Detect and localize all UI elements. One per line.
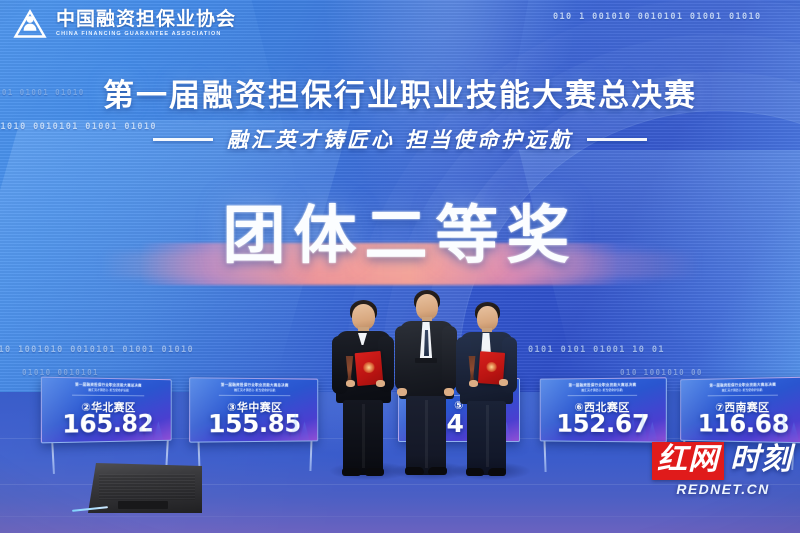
shoe-left-2 — [365, 468, 384, 476]
hand-left-1 — [346, 380, 355, 387]
podium-rule-4 — [567, 395, 637, 396]
arm-right-outer — [456, 337, 471, 395]
watermark-url: REDNET.CN — [652, 481, 794, 497]
hand-center-2 — [444, 388, 454, 396]
subtitle-rule-right — [587, 138, 647, 141]
watermark-brand-red: 红网 — [652, 442, 724, 480]
trouser-seam-center — [425, 400, 428, 468]
shoe-center-2 — [428, 467, 447, 475]
speaker-grille — [99, 474, 195, 500]
association-logo: 中国融资担保业协会 CHINA FINANCING GUARANTEE ASSO… — [12, 6, 236, 42]
logo-name-cn: 中国融资担保业协会 — [56, 10, 236, 29]
podium-header-1: 第一届融资担保行业职业技能大赛总决赛 融汇英才铸匠心 担当使命护远航 — [42, 382, 171, 393]
watermark-brand-row: 红网 时刻 — [652, 442, 794, 480]
hand-center-1 — [397, 388, 407, 396]
mountain-person-icon — [12, 6, 48, 42]
belt-center — [415, 358, 437, 363]
podium-score-4: 152.67 — [541, 411, 666, 437]
certificate-emblem-right — [486, 361, 498, 373]
watermark: 红网 时刻 REDNET.CN — [652, 442, 794, 497]
podium-rule-2 — [219, 395, 290, 396]
speaker-port — [118, 501, 168, 509]
hand-right-1 — [469, 380, 478, 387]
logo-name-en: CHINA FINANCING GUARANTEE ASSOCIATION — [56, 32, 236, 38]
trouser-seam-right — [486, 405, 489, 467]
podium-header-5: 第一届融资担保行业职业技能大赛总决赛 融汇英才铸匠心 担当使命护远航 — [681, 382, 800, 393]
podium-header-4: 第一届融资担保行业职业技能大赛总决赛 融汇英才铸匠心 担当使命护远航 — [541, 382, 666, 393]
event-subtitle: 融汇英才铸匠心 担当使命护远航 — [227, 124, 573, 154]
podium-screen-5[interactable]: 第一届融资担保行业职业技能大赛总决赛 融汇英才铸匠心 担当使命护远航 ⑦西南赛区… — [680, 377, 800, 444]
podium-rule-5 — [707, 395, 778, 397]
arm-center-left — [395, 326, 410, 390]
event-subtitle-row: 融汇英才铸匠心 担当使命护远航 — [0, 124, 800, 154]
event-title: 第一届融资担保行业职业技能大赛总决赛 — [0, 70, 800, 115]
shoe-right-1 — [466, 468, 484, 476]
trouser-seam-left — [362, 404, 365, 468]
subtitle-rule-left — [153, 138, 213, 141]
podium-screen-1[interactable]: 第一届融资担保行业职业技能大赛总决赛 融汇英才铸匠心 担当使命护远航 ②华北赛区… — [41, 377, 172, 444]
person-recipient-right — [455, 302, 519, 475]
watermark-brand-white: 时刻 — [726, 442, 794, 480]
floor-seam-3 — [0, 516, 800, 517]
person-presenter-center — [393, 290, 459, 475]
shoe-right-2 — [488, 468, 506, 476]
podium-header-2: 第一届融资担保行业职业技能大赛总决赛 融汇英才铸匠心 担当使命护远航 — [190, 382, 317, 393]
stage-photo: 中国融资担保业协会 CHINA FINANCING GUARANTEE ASSO… — [0, 0, 800, 533]
podium-screen-4[interactable]: 第一届融资担保行业职业技能大赛总决赛 融汇英才铸匠心 担当使命护远航 ⑥西北赛区… — [540, 377, 667, 442]
shoe-center-1 — [405, 467, 424, 475]
certificate-emblem-left — [363, 361, 375, 373]
hand-right-2 — [499, 379, 508, 386]
podium-rule-1 — [72, 395, 144, 397]
award-label: 团体二等奖 — [0, 185, 800, 276]
logo-wordmark: 中国融资担保业协会 CHINA FINANCING GUARANTEE ASSO… — [56, 10, 236, 38]
podium-screen-2[interactable]: 第一届融资担保行业职业技能大赛总决赛 融汇英才铸匠心 担当使命护远航 ③华中赛区… — [189, 377, 318, 442]
shoe-left-1 — [342, 468, 361, 476]
hand-left-2 — [376, 380, 385, 387]
person-recipient-left — [330, 300, 396, 475]
